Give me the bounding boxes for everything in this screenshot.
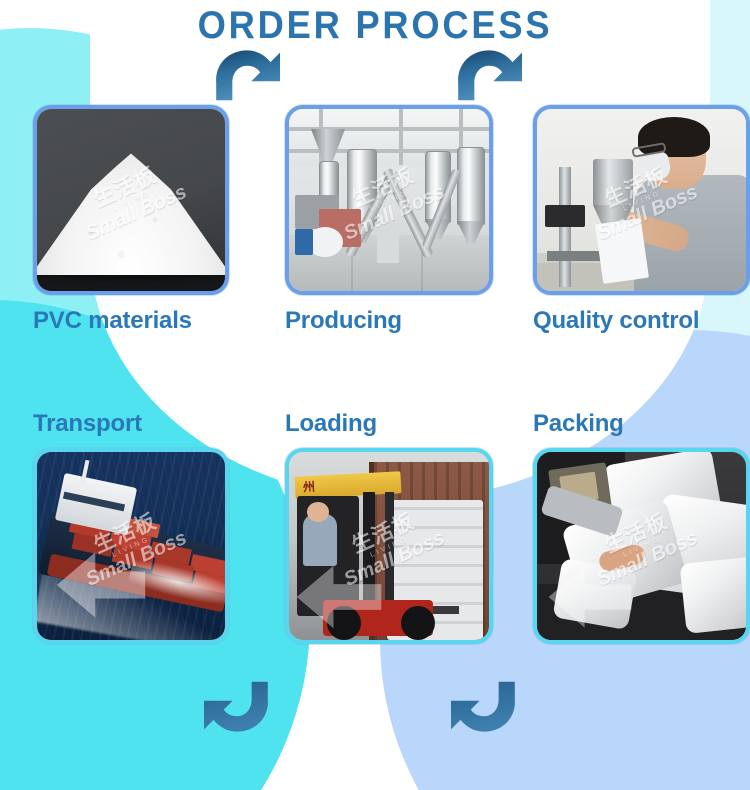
process-step-quality-control[interactable]: 生活板 LIVING Small Boss Quality control bbox=[533, 105, 750, 335]
packing-sacks-photo bbox=[537, 452, 746, 640]
photo-card[interactable]: 生活板 LIVING Small Boss bbox=[33, 105, 229, 295]
step-label-loading: Loading bbox=[285, 410, 493, 438]
forklift-loading-photo: 州 bbox=[289, 452, 489, 640]
process-row-top: 生活板 LIVING Small Boss PVC materials bbox=[0, 105, 750, 350]
photo-card[interactable]: 生活板 LIVING Small Boss bbox=[533, 448, 750, 644]
rotate-arrow-clockwise-icon bbox=[210, 46, 284, 112]
photo-card[interactable]: 生活板 LIVING Small Boss bbox=[33, 448, 229, 644]
rotate-arrow-clockwise-icon bbox=[452, 46, 526, 112]
process-step-producing[interactable]: 生活板 LIVING Small Boss Producing bbox=[285, 105, 493, 335]
step-label-quality-control: Quality control bbox=[533, 307, 750, 335]
rotate-arrow-counterclockwise-icon bbox=[200, 670, 274, 736]
process-step-loading[interactable]: Loading 州 bbox=[285, 410, 493, 644]
factory-machinery-photo bbox=[289, 109, 489, 291]
container-ship-photo bbox=[37, 452, 225, 640]
step-label-producing: Producing bbox=[285, 307, 493, 335]
step-label-transport: Transport bbox=[33, 410, 229, 438]
step-label-pvc-materials: PVC materials bbox=[33, 307, 229, 335]
pvc-powder-photo bbox=[37, 109, 225, 291]
quality-control-photo bbox=[537, 109, 746, 291]
photo-card[interactable]: 生活板 LIVING Small Boss bbox=[285, 105, 493, 295]
page-title: ORDER PROCESS bbox=[26, 4, 724, 48]
photo-card[interactable]: 州 生活板 LIVING Small Boss bbox=[285, 448, 493, 644]
process-step-packing[interactable]: Packing 生活板 bbox=[533, 410, 750, 644]
process-row-bottom: Transport bbox=[0, 410, 750, 670]
step-label-packing: Packing bbox=[533, 410, 750, 438]
photo-card[interactable]: 生活板 LIVING Small Boss bbox=[533, 105, 750, 295]
process-step-pvc-materials[interactable]: 生活板 LIVING Small Boss PVC materials bbox=[33, 105, 229, 335]
rotate-arrow-counterclockwise-icon bbox=[447, 670, 521, 736]
process-step-transport[interactable]: Transport bbox=[33, 410, 229, 644]
